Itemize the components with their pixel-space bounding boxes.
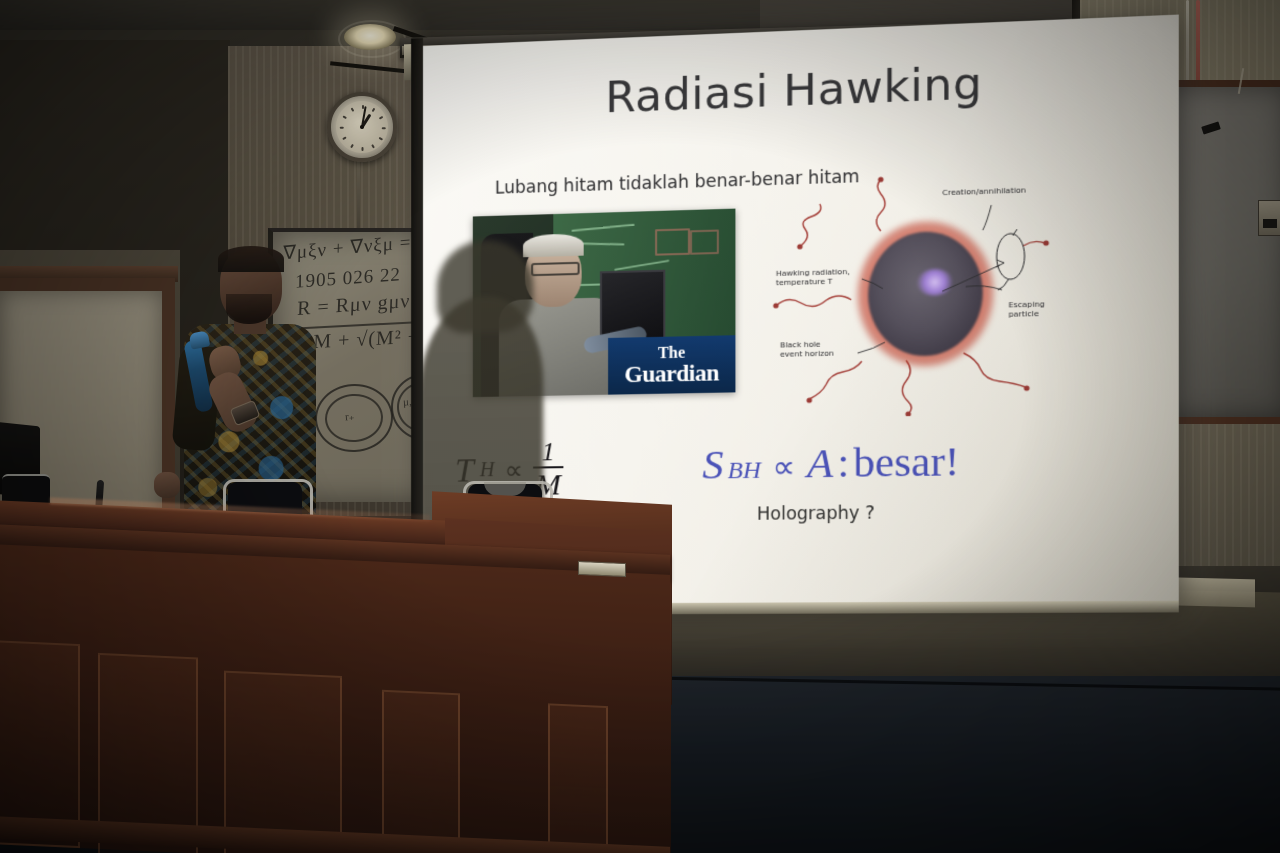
desk-panel (382, 690, 460, 853)
clock-center-pin (360, 125, 364, 129)
presenter-other-hand (154, 472, 180, 498)
eq-left-numerator: 1 (542, 439, 555, 466)
slide-footer-text: Holography ? (709, 503, 874, 525)
diagram-leader-lines (774, 165, 1082, 410)
whiteboard-circle-label-left: r₊ (345, 410, 355, 424)
label-hawking-line2: temperature T (776, 277, 833, 288)
label-event-horizon: Black hole event horizon (780, 339, 834, 359)
guardian-the-text: The (658, 345, 685, 362)
white-cable (1186, 0, 1189, 92)
eq-right-subscript: BH (728, 457, 761, 485)
presenter-beard (226, 294, 272, 324)
desk-nameplate (578, 561, 626, 577)
black-hole-diagram: Creation/annihilation Hawking radiation,… (774, 165, 1082, 410)
desk-panel (548, 703, 608, 853)
presenter-hair (218, 246, 284, 272)
ceiling-downlight-icon (344, 24, 396, 50)
label-escaping-particle: Escaping particle (1008, 299, 1044, 319)
equation-entropy: SBH ∝ A : besar! (702, 436, 959, 489)
desk-front-body (0, 544, 670, 853)
label-horizon-line2: event horizon (780, 349, 834, 359)
eq-right-symbol: S (702, 440, 723, 489)
slide-title: Radiasi Hawking (423, 50, 1179, 130)
eq-right-colon: : (837, 438, 849, 488)
wooden-desk (0, 500, 680, 853)
photo-hair (523, 233, 584, 257)
wall-clock (327, 92, 397, 162)
photo-glasses-icon (531, 262, 580, 276)
label-hawking-line1: Hawking radiation, (776, 267, 850, 278)
label-hawking-radiation: Hawking radiation, temperature T (776, 267, 850, 288)
eq-right-area: A (807, 438, 833, 488)
label-escaping-line1: Escaping (1008, 299, 1044, 309)
desk-panel (224, 671, 342, 853)
label-escaping-line2: particle (1008, 309, 1038, 319)
clock-face (336, 101, 388, 153)
eq-right-operator: ∝ (765, 449, 803, 486)
socket-hole (1263, 219, 1277, 228)
guardian-name-text: Guardian (624, 361, 718, 386)
lecture-hall-photo: ∇μξν + ∇νξμ = 0 1905 026 22 R = Rμν gμν … (0, 0, 1280, 853)
guardian-watermark: The Guardian (608, 335, 735, 394)
wall-socket[interactable] (1258, 200, 1280, 236)
eq-right-emphasis: besar! (853, 436, 959, 487)
label-horizon-line1: Black hole (780, 340, 820, 350)
